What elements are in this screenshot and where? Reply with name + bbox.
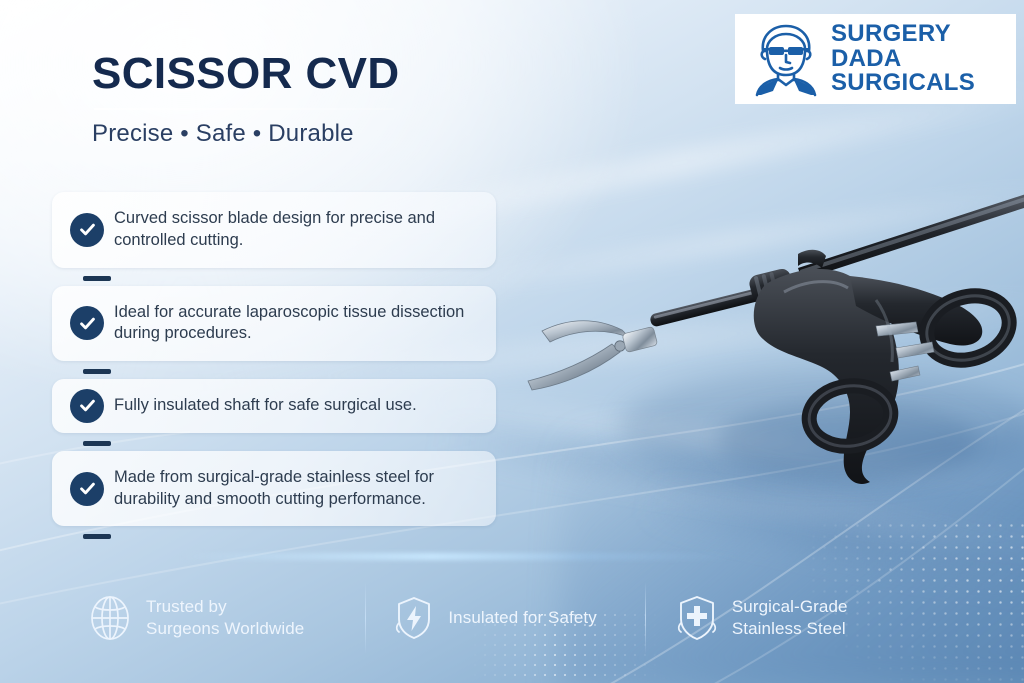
trust-badge-stainless[interactable]: Surgical-Grade Stainless Steel <box>676 594 848 642</box>
feature-text: Curved scissor blade design for precise … <box>114 208 478 252</box>
feature-card[interactable]: Ideal for accurate laparoscopic tissue d… <box>52 286 496 362</box>
logo-line-1: SURGERY DADA <box>831 22 1016 72</box>
title-divider <box>94 108 394 110</box>
page-subtitle: Precise • Safe • Durable <box>92 120 400 148</box>
globe-icon <box>88 594 132 642</box>
shield-cross-icon <box>676 594 718 642</box>
check-circle-icon <box>70 472 104 506</box>
trust-badge-label: Trusted by Surgeons Worldwide <box>146 596 304 640</box>
feature-text: Ideal for accurate laparoscopic tissue d… <box>114 302 478 346</box>
trust-badge-worldwide[interactable]: Trusted by Surgeons Worldwide <box>88 594 304 642</box>
feature-card[interactable]: Curved scissor blade design for precise … <box>52 192 496 268</box>
trust-badge-line-2: Stainless Steel <box>732 618 848 640</box>
badge-divider <box>645 582 646 654</box>
page-title: SCISSOR CVD <box>92 52 400 96</box>
product-image-laparoscopic-scissor <box>498 176 1024 556</box>
feature-accent-dash <box>83 276 111 281</box>
header-block: SCISSOR CVD Precise • Safe • Durable <box>92 52 400 148</box>
trust-badge-label: Insulated for Safety <box>448 607 596 629</box>
feature-accent-dash <box>83 369 111 374</box>
feature-card[interactable]: Fully insulated shaft for safe surgical … <box>52 379 496 433</box>
feature-list: Curved scissor blade design for precise … <box>52 192 496 544</box>
check-circle-icon <box>70 389 104 423</box>
trust-badge-line-2: Surgeons Worldwide <box>146 618 304 640</box>
promo-banner: SCISSOR CVD Precise • Safe • Durable <box>0 0 1024 683</box>
trust-badge-insulated[interactable]: Insulated for Safety <box>394 595 596 641</box>
shield-bolt-icon <box>394 595 434 641</box>
trust-badge-label: Surgical-Grade Stainless Steel <box>732 596 848 640</box>
feature-card[interactable]: Made from surgical-grade stainless steel… <box>52 451 496 527</box>
feature-accent-dash <box>83 534 111 539</box>
feature-text: Fully insulated shaft for safe surgical … <box>114 395 478 417</box>
trust-badge-row: Trusted by Surgeons Worldwide Insulated … <box>0 553 900 683</box>
feature-text: Made from surgical-grade stainless steel… <box>114 467 478 511</box>
trust-badge-line-1: Surgical-Grade <box>732 596 848 618</box>
brand-logo[interactable]: SURGERY DADA SURGICALS <box>735 14 1016 104</box>
surgeon-face-icon <box>747 21 825 97</box>
badge-divider <box>365 582 366 654</box>
check-circle-icon <box>70 306 104 340</box>
feature-accent-dash <box>83 441 111 446</box>
check-circle-icon <box>70 213 104 247</box>
trust-badge-line-1: Trusted by <box>146 596 304 618</box>
logo-line-2: SURGICALS <box>831 71 1016 96</box>
trust-badge-line-1: Insulated for Safety <box>448 607 596 629</box>
